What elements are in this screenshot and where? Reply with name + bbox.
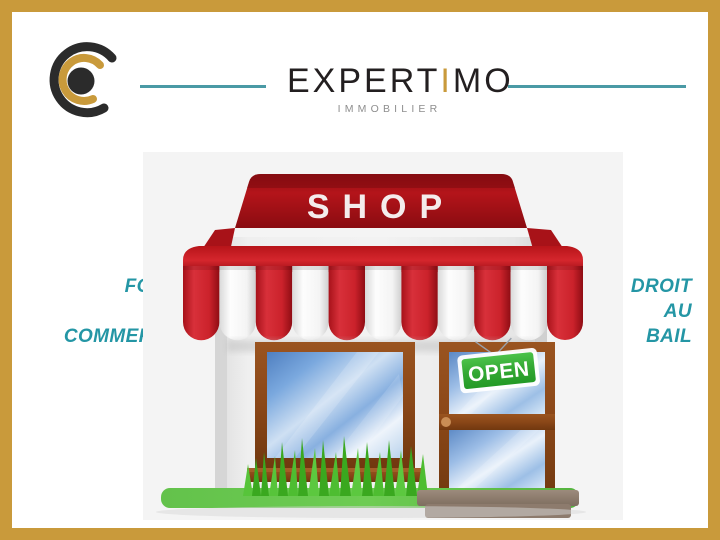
brand-name: EXPERTIMO	[287, 64, 492, 98]
slide-canvas: EXPERTIMO IMMOBILIER FOND DE COMMERCE DR…	[0, 0, 720, 540]
shop-sign-text: SHOP	[307, 188, 455, 226]
storefront-image-panel: SHOP	[143, 152, 623, 520]
brand-name-part1: EXPERT	[287, 62, 440, 100]
awning-stripes	[183, 266, 583, 340]
storefront-shop-illustration: SHOP	[143, 152, 623, 520]
frame-border-left	[0, 0, 12, 540]
frame-border-bottom	[0, 528, 720, 540]
header-rule-left	[140, 85, 266, 88]
door-knob-icon	[441, 417, 451, 427]
brand-tagline: IMMOBILIER	[287, 103, 492, 115]
brand-name-accent-letter: I	[440, 62, 452, 100]
expertimo-logo-icon	[34, 32, 132, 130]
header-rule-right	[508, 85, 686, 88]
frame-border-right	[708, 0, 720, 540]
brand-wordmark: EXPERTIMO IMMOBILIER	[287, 64, 492, 115]
slide-content-area: EXPERTIMO IMMOBILIER FOND DE COMMERCE DR…	[12, 12, 708, 528]
brand-name-part2: MO	[453, 62, 514, 100]
frame-border-top	[0, 0, 720, 12]
